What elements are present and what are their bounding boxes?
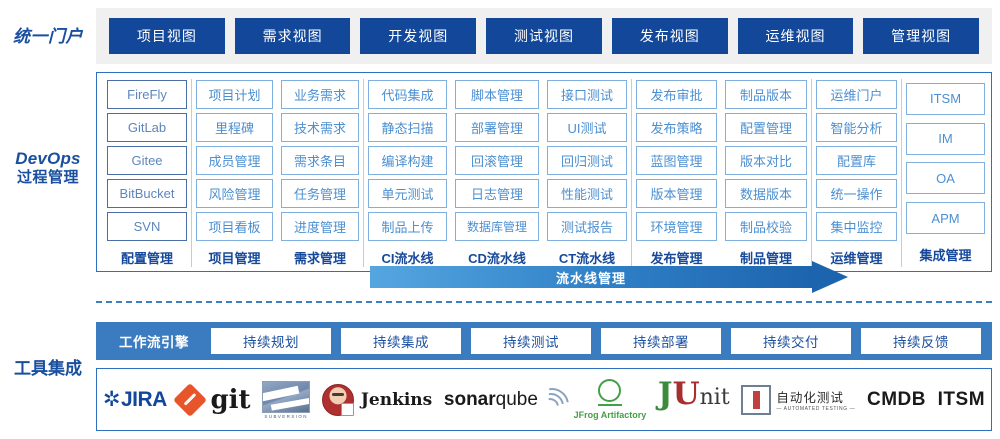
capability-column-title: 配置管理 — [107, 247, 187, 267]
capability-cell[interactable]: 制品上传 — [368, 212, 447, 241]
portal-view-test[interactable]: 测试视图 — [486, 18, 602, 54]
itsm-logo-text: ITSM — [938, 389, 985, 411]
section-label-portal: 统一门户 — [0, 26, 96, 47]
workflow-stage-testing[interactable]: 持续测试 — [471, 328, 591, 354]
capability-cell[interactable]: 回归测试 — [547, 146, 627, 175]
capability-column-integration: ITSM IM OA APM 集成管理 — [901, 79, 989, 267]
capability-cell[interactable]: OA — [906, 162, 985, 194]
capability-cell[interactable]: 统一操作 — [816, 179, 897, 208]
capability-cell[interactable]: 部署管理 — [455, 113, 539, 142]
capability-cell[interactable]: BitBucket — [107, 179, 187, 208]
subversion-mark-icon — [262, 381, 310, 413]
subversion-logo: SUBVERSION — [262, 376, 310, 424]
capability-cell[interactable]: 回滚管理 — [455, 146, 539, 175]
capability-column-cd-pipeline: 脚本管理 部署管理 回滚管理 日志管理 数据库管理 CD流水线 — [451, 79, 543, 267]
capability-cell[interactable]: 里程碑 — [196, 113, 273, 142]
jfrog-bar-icon — [598, 404, 622, 406]
capability-column-title: 需求管理 — [281, 247, 359, 267]
capability-cell[interactable]: 蓝图管理 — [636, 146, 717, 175]
capability-cell[interactable]: 智能分析 — [816, 113, 897, 142]
section-divider — [96, 301, 992, 303]
devops-architecture-diagram: 统一门户 项目视图 需求视图 开发视图 测试视图 发布视图 运维视图 管理视图 … — [0, 0, 1000, 439]
portal-view-requirement[interactable]: 需求视图 — [235, 18, 351, 54]
junit-logo-text-j: J — [658, 376, 673, 412]
capability-cell[interactable]: 运维门户 — [816, 80, 897, 109]
capability-cell[interactable]: 制品校验 — [725, 212, 807, 241]
capability-cell[interactable]: 技术需求 — [281, 113, 359, 142]
sonarqube-logo-text-bold: sonar — [444, 389, 496, 411]
capability-cell[interactable]: IM — [906, 123, 985, 155]
portal-view-management[interactable]: 管理视图 — [863, 18, 979, 54]
jenkins-logo-text: Jenkins — [361, 390, 432, 410]
junit-logo-text-u: U — [673, 376, 700, 412]
capability-cell[interactable]: ITSM — [906, 83, 985, 115]
capability-cell[interactable]: 集中监控 — [816, 212, 897, 241]
automated-testing-mark-icon — [741, 385, 771, 415]
sonarqube-waves-icon — [540, 389, 562, 411]
capability-cell[interactable]: APM — [906, 202, 985, 234]
capability-cell[interactable]: 测试报告 — [547, 212, 627, 241]
workflow-stage-integration[interactable]: 持续集成 — [341, 328, 461, 354]
portal-view-band: 项目视图 需求视图 开发视图 测试视图 发布视图 运维视图 管理视图 — [96, 8, 992, 64]
capability-cell[interactable]: 静态扫描 — [368, 113, 447, 142]
capability-column-title: 项目管理 — [196, 247, 273, 267]
capability-cell[interactable]: 配置库 — [816, 146, 897, 175]
workflow-stage-planning[interactable]: 持续规划 — [211, 328, 331, 354]
capability-column-title: CT流水线 — [547, 247, 627, 267]
capability-cell[interactable]: 日志管理 — [455, 179, 539, 208]
cmdb-logo-text: CMDB — [867, 389, 926, 411]
capability-column-artifact: 制品版本 配置管理 版本对比 数据版本 制品校验 制品管理 — [721, 79, 811, 267]
workflow-engine-label: 工作流引擎 — [102, 331, 206, 351]
capability-column-requirement: 业务需求 技术需求 需求条目 任务管理 进度管理 需求管理 — [277, 79, 363, 267]
capability-cell[interactable]: GitLab — [107, 113, 187, 142]
jira-logo-text: JIRA — [121, 388, 167, 412]
capability-cell[interactable]: Gitee — [107, 146, 187, 175]
portal-view-operations[interactable]: 运维视图 — [738, 18, 854, 54]
capability-cell[interactable]: 发布策略 — [636, 113, 717, 142]
section-label-tools-text: 工具集成 — [14, 359, 82, 378]
capability-cell[interactable]: 发布审批 — [636, 80, 717, 109]
capability-column-operations: 运维门户 智能分析 配置库 统一操作 集中监控 运维管理 — [811, 79, 901, 267]
capability-cell[interactable]: 编译构建 — [368, 146, 447, 175]
capability-column-ci-pipeline: 代码集成 静态扫描 编译构建 单元测试 制品上传 CI流水线 — [363, 79, 451, 267]
capability-cell[interactable]: 业务需求 — [281, 80, 359, 109]
capability-column-project: 项目计划 里程碑 成员管理 风险管理 项目看板 项目管理 — [191, 79, 277, 267]
section-label-tools: 工具集成 — [0, 358, 96, 379]
portal-view-project[interactable]: 项目视图 — [109, 18, 225, 54]
capability-cell[interactable]: 版本对比 — [725, 146, 807, 175]
capability-cell[interactable]: 项目计划 — [196, 80, 273, 109]
automated-testing-logo: 自动化测试 — AUTOMATED TESTING — — [741, 376, 855, 424]
automated-testing-logo-text-cn: 自动化测试 — [776, 387, 855, 406]
capability-column-title: CD流水线 — [455, 247, 539, 267]
automated-testing-logo-text-en: — AUTOMATED TESTING — — [776, 406, 855, 412]
capability-column-release: 发布审批 发布策略 蓝图管理 版本管理 环境管理 发布管理 — [631, 79, 721, 267]
capability-column-ct-pipeline: 接口测试 UI测试 回归测试 性能测试 测试报告 CT流水线 — [543, 79, 631, 267]
cmdb-logo: CMDB — [867, 376, 926, 424]
capability-column-title: 集成管理 — [906, 244, 985, 264]
capability-cell[interactable]: 单元测试 — [368, 179, 447, 208]
section-label-portal-text: 统一门户 — [13, 27, 83, 46]
workflow-stage-feedback[interactable]: 持续反馈 — [861, 328, 981, 354]
section-label-devops-latin: DevOps — [0, 148, 96, 169]
capability-cell[interactable]: 性能测试 — [547, 179, 627, 208]
capability-cell[interactable]: UI测试 — [547, 113, 627, 142]
devops-capability-panel: FireFly GitLab Gitee BitBucket SVN 配置管理 … — [96, 72, 992, 272]
capability-cell[interactable]: 配置管理 — [725, 113, 807, 142]
junit-logo: J U nit — [658, 376, 730, 424]
capability-cell[interactable]: 版本管理 — [636, 179, 717, 208]
workflow-stage-delivery[interactable]: 持续交付 — [731, 328, 851, 354]
capability-cell[interactable]: 环境管理 — [636, 212, 717, 241]
section-label-devops: DevOps 过程管理 — [0, 148, 96, 188]
git-logo: git — [178, 376, 250, 424]
capability-cell[interactable]: 制品版本 — [725, 80, 807, 109]
capability-cell[interactable]: 任务管理 — [281, 179, 359, 208]
portal-view-development[interactable]: 开发视图 — [360, 18, 476, 54]
itsm-logo: ITSM — [938, 376, 985, 424]
capability-cell[interactable]: 脚本管理 — [455, 80, 539, 109]
jenkins-logo: Jenkins — [322, 376, 432, 424]
workflow-stage-deployment[interactable]: 持续部署 — [601, 328, 721, 354]
capability-cell[interactable]: 数据版本 — [725, 179, 807, 208]
git-diamond-icon — [173, 383, 207, 417]
workflow-engine-bar: 工作流引擎 持续规划 持续集成 持续测试 持续部署 持续交付 持续反馈 — [96, 322, 992, 360]
jfrog-ring-icon — [598, 379, 621, 402]
capability-cell[interactable]: SVN — [107, 212, 187, 241]
git-logo-text: git — [210, 385, 250, 415]
capability-cell[interactable]: 成员管理 — [196, 146, 273, 175]
pipeline-management-arrow: 流水线管理 — [370, 266, 848, 288]
tool-logo-strip: ✲ JIRA git SUBVERSION Jenkins sonar qube — [96, 368, 992, 431]
junit-logo-text-rest: nit — [700, 385, 730, 410]
capability-cell[interactable]: 接口测试 — [547, 80, 627, 109]
jira-logo: ✲ JIRA — [103, 376, 167, 424]
section-label-devops-cjk: 过程管理 — [0, 169, 96, 188]
capability-column-title: CI流水线 — [368, 247, 447, 267]
capability-cell[interactable]: 需求条目 — [281, 146, 359, 175]
jfrog-logo-text: JFrog Artifactory — [574, 410, 647, 420]
jfrog-artifactory-logo: JFrog Artifactory — [574, 376, 647, 424]
capability-cell[interactable]: 进度管理 — [281, 212, 359, 241]
capability-column-title: 发布管理 — [636, 247, 717, 267]
capability-cell[interactable]: FireFly — [107, 80, 187, 109]
capability-cell[interactable]: 项目看板 — [196, 212, 273, 241]
capability-column-title: 制品管理 — [725, 247, 807, 267]
subversion-logo-text: SUBVERSION — [264, 414, 308, 419]
pipeline-arrow-head — [812, 261, 848, 293]
capability-cell[interactable]: 风险管理 — [196, 179, 273, 208]
jira-mark-icon: ✲ — [103, 387, 120, 412]
capability-column-configuration: FireFly GitLab Gitee BitBucket SVN 配置管理 — [103, 79, 191, 267]
pipeline-arrow-label: 流水线管理 — [370, 266, 812, 288]
sonarqube-logo-text-light: qube — [496, 389, 538, 411]
jenkins-butler-icon — [322, 384, 354, 416]
capability-cell[interactable]: 数据库管理 — [455, 212, 539, 241]
sonarqube-logo: sonar qube — [444, 376, 562, 424]
capability-cell[interactable]: 代码集成 — [368, 80, 447, 109]
portal-view-release[interactable]: 发布视图 — [612, 18, 728, 54]
